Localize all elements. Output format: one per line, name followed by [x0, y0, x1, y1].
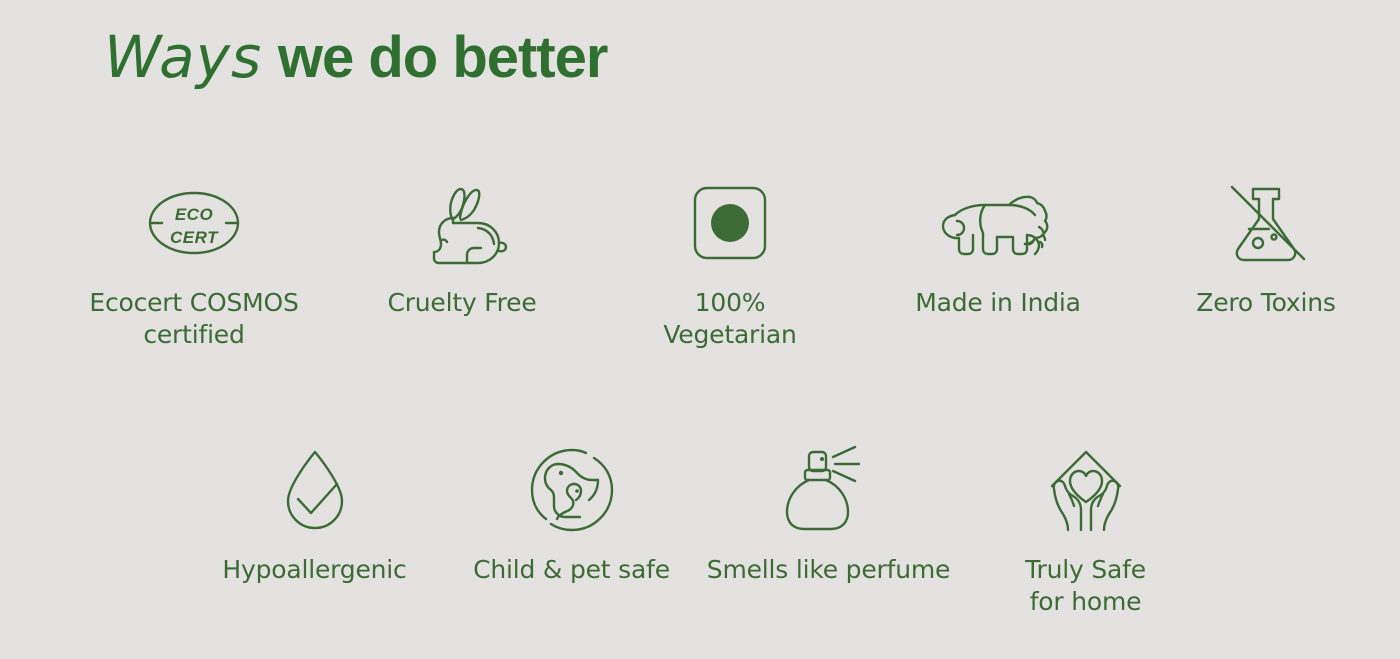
child-and-pet-icon: [528, 440, 616, 540]
badge-truly-safe-for-home: Truly Safe for home: [957, 440, 1214, 618]
benefits-row-secondary: Hypoallergenic Child & pet safe: [185, 440, 1215, 618]
badge-label: 100% Vegetarian: [663, 287, 796, 351]
badge-label: Child & pet safe: [473, 554, 670, 586]
water-drop-check-icon: [280, 440, 350, 540]
badge-smells-like-perfume: Smells like perfume: [700, 440, 957, 586]
perfume-bottle-icon: [783, 440, 875, 540]
badge-label: Ecocert COSMOS certified: [89, 287, 298, 351]
badge-child-pet-safe: Child & pet safe: [443, 440, 700, 586]
page-title: Ways we do better: [104, 24, 608, 92]
badge-hypoallergenic: Hypoallergenic: [186, 440, 443, 586]
flask-crossed-out-icon: [1220, 170, 1312, 275]
ecocert-eco-text: ECO: [175, 205, 213, 224]
badge-cruelty-free: Cruelty Free: [328, 170, 596, 319]
ecocert-logo-icon: ECO CERT: [142, 170, 246, 275]
badge-label: Hypoallergenic: [222, 554, 406, 586]
badge-vegetarian: 100% Vegetarian: [596, 170, 864, 351]
ecocert-cert-text: CERT: [170, 228, 219, 247]
badge-label: Smells like perfume: [707, 554, 950, 586]
badge-label: Made in India: [915, 287, 1081, 319]
rabbit-icon: [412, 170, 512, 275]
page-title-bold: we do better: [278, 25, 608, 90]
badge-zero-toxins: Zero Toxins: [1132, 170, 1400, 319]
lion-icon: [935, 170, 1061, 275]
badge-label: Zero Toxins: [1196, 287, 1335, 319]
badge-ecocert-cosmos: ECO CERT Ecocert COSMOS certified: [60, 170, 328, 351]
badge-label: Cruelty Free: [387, 287, 536, 319]
badge-label: Truly Safe for home: [1025, 554, 1146, 618]
vegetarian-mark-icon: [692, 170, 768, 275]
benefits-row-primary: ECO CERT Ecocert COSMOS certified Cruelt…: [60, 170, 1400, 351]
badge-made-in-india: Made in India: [864, 170, 1132, 319]
page-title-light: Ways: [104, 23, 262, 91]
hands-heart-home-icon: [1042, 440, 1130, 540]
